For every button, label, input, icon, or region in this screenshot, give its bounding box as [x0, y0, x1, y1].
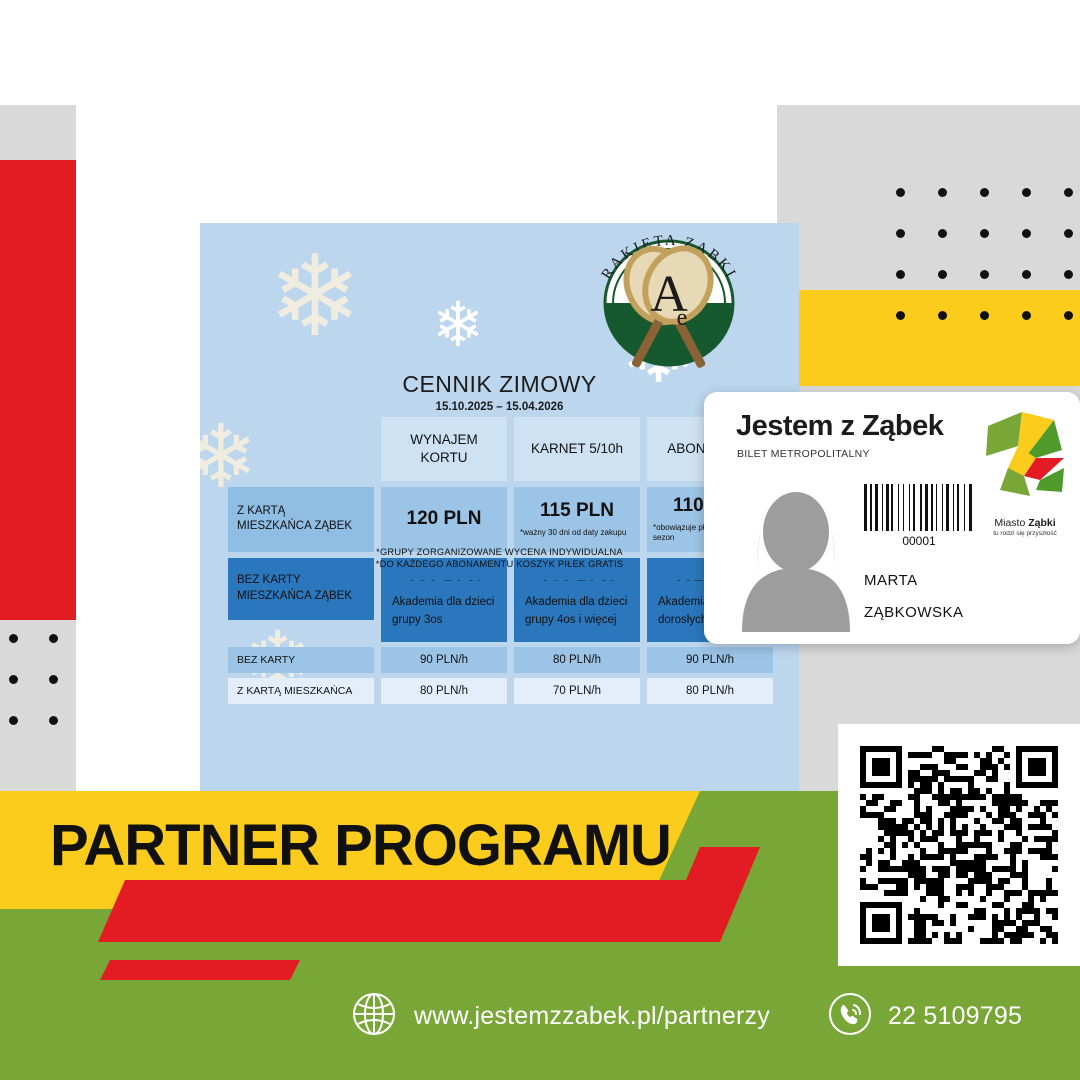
- barcode-bar: [913, 484, 915, 531]
- banner-red-stripe-small: [100, 960, 300, 980]
- decorative-dot: [49, 675, 58, 684]
- price-cell: 120 PLN: [381, 487, 507, 552]
- price-cell: 115 PLN *ważny 30 dni od daty zakupu: [514, 487, 640, 552]
- city-logo-name-bold: Ząbki: [1028, 517, 1055, 529]
- decorative-dot: [1022, 229, 1031, 238]
- snowflake-icon: ❄: [268, 241, 362, 353]
- academy-price-cell: 90 PLN/h: [381, 647, 507, 673]
- academy-corner-cell: [228, 581, 374, 642]
- price-table-header-wynajem: WYNAJEM KORTU: [381, 417, 507, 481]
- decorative-dot: [938, 311, 947, 320]
- barcode-bar: [909, 484, 910, 531]
- academy-price-cell: 90 PLN/h: [647, 647, 773, 673]
- decorative-dot: [938, 229, 947, 238]
- barcode-bar: [890, 484, 891, 531]
- barcode-bar: [903, 484, 904, 531]
- website-url[interactable]: www.jestemzzabek.pl/partnerzy: [414, 1002, 770, 1031]
- decorative-dot: [980, 270, 989, 279]
- barcode-bar: [923, 484, 924, 531]
- header-line: dorosłych: [658, 614, 707, 626]
- academy-row-bez-karty: BEZ KARTY 90 PLN/h 80 PLN/h 90 PLN/h: [228, 647, 773, 673]
- cardholder-photo: [736, 484, 856, 632]
- barcode-bar: [864, 484, 867, 531]
- decorative-dot: [896, 270, 905, 279]
- svg-text:e: e: [677, 305, 688, 331]
- barcode-bar: [911, 484, 912, 531]
- barcode-bar: [900, 484, 902, 531]
- header-line: Akademia dla dzieci: [525, 596, 627, 608]
- barcode-bar: [870, 484, 872, 531]
- row-label-line: Z KARTĄ: [237, 504, 365, 520]
- barcode-bar: [873, 484, 874, 531]
- city-logo-name-plain: Miasto: [994, 517, 1028, 529]
- decorative-dot: [896, 311, 905, 320]
- barcode-number: 00001: [864, 534, 974, 548]
- barcode-bar: [875, 484, 878, 531]
- decorative-dot: [1022, 270, 1031, 279]
- barcode-bar: [898, 484, 899, 531]
- barcode-bar: [920, 484, 922, 531]
- decorative-dot: [49, 716, 58, 725]
- qr-code-icon[interactable]: [860, 746, 1058, 944]
- rakieta-zabki-logo: RAKIETA ZĄBKI A e: [574, 231, 764, 391]
- cardholder-first-name-field: MARTA: [864, 568, 1080, 593]
- background-red-left-block: [0, 160, 76, 620]
- decorative-dot: [980, 311, 989, 320]
- decorative-dot: [980, 229, 989, 238]
- academy-price-cell: 70 PLN/h: [514, 678, 640, 704]
- decorative-dot: [9, 634, 18, 643]
- metro-ticket-card: Jestem z Ząbek BILET METROPOLITALNY Mias…: [704, 392, 1080, 644]
- globe-icon: [352, 992, 396, 1041]
- poster-white-frame: ❄ ❄ ❄ ❄ ❄ RAKIETA ZĄBKI: [76, 86, 772, 792]
- barcode-bar: [944, 484, 945, 531]
- barcode-bar: [868, 484, 869, 531]
- barcode-bar: [953, 484, 954, 531]
- barcode-bar: [879, 484, 881, 531]
- barcode-bar: [957, 484, 959, 531]
- decorative-dot: [938, 188, 947, 197]
- decorative-dot: [1064, 270, 1073, 279]
- footer-website[interactable]: www.jestemzzabek.pl/partnerzy: [352, 992, 770, 1041]
- header-line: KARNET 5/10h: [531, 440, 623, 458]
- barcode-bar: [942, 484, 944, 531]
- academy-price-cell: 80 PLN/h: [647, 678, 773, 704]
- barcode-bar: [905, 484, 908, 531]
- barcode-bar: [955, 484, 956, 531]
- academy-header-dzieci-4os: Akademia dla dzieci grupy 4os i więcej: [514, 581, 640, 642]
- row-label-line: MIESZKAŃCA ZĄBEK: [237, 519, 365, 535]
- price-table-corner-cell: [228, 417, 374, 481]
- academy-row-z-karta: Z KARTĄ MIESZKAŃCA 80 PLN/h 70 PLN/h 80 …: [228, 678, 773, 704]
- barcode-bar: [973, 484, 974, 531]
- barcode-bar: [931, 484, 933, 531]
- dot-grid-left: [0, 620, 76, 750]
- banner-title: PARTNER PROGRAMU: [50, 812, 671, 879]
- price-table-header-row: WYNAJEM KORTU KARNET 5/10h ABONAMENT: [228, 417, 773, 481]
- academy-table: Akademia dla dzieci grupy 3os Akademia d…: [228, 581, 773, 709]
- barcode-bar: [882, 484, 883, 531]
- barcode-bar: [884, 484, 885, 531]
- barcode-bar: [960, 484, 963, 531]
- decorative-dot: [49, 634, 58, 643]
- decorative-dot: [896, 188, 905, 197]
- city-logo-tagline: tu rodzi się przyszłość: [978, 530, 1072, 537]
- decorative-dot: [1022, 311, 1031, 320]
- cardholder-last-name: ZĄBKOWSKA: [864, 604, 964, 621]
- barcode-bar: [938, 484, 941, 531]
- barcode-bar: [929, 484, 930, 531]
- qr-code-card[interactable]: [838, 724, 1080, 966]
- cardholder-last-name-field: ZĄBKOWSKA: [864, 600, 1080, 625]
- barcode-bar: [925, 484, 928, 531]
- price-value: 120 PLN: [407, 508, 482, 530]
- card-subtitle: BILET METROPOLITALNY: [737, 448, 870, 460]
- price-value: 115 PLN: [540, 500, 614, 522]
- barcode-bar: [964, 484, 965, 531]
- decorative-dot: [1064, 311, 1073, 320]
- decorative-dot: [938, 270, 947, 279]
- academy-price-cell: 80 PLN/h: [514, 647, 640, 673]
- header-line: WYNAJEM: [410, 432, 478, 447]
- academy-header-row: Akademia dla dzieci grupy 3os Akademia d…: [228, 581, 773, 642]
- decorative-dot: [980, 188, 989, 197]
- phone-icon: [828, 992, 872, 1041]
- footer-phone[interactable]: 22 5109795: [828, 992, 1022, 1041]
- header-line: grupy 4os i więcej: [525, 614, 616, 626]
- barcode-bar: [916, 484, 919, 531]
- price-table-row-z-karta: Z KARTĄ MIESZKAŃCA ZĄBEK 120 PLN 115 PLN…: [228, 487, 773, 552]
- barcode-bar: [894, 484, 897, 531]
- phone-number[interactable]: 22 5109795: [888, 1002, 1022, 1031]
- decorative-dot: [896, 229, 905, 238]
- snowflake-icon: ❄: [432, 295, 484, 357]
- dot-grid-right: [880, 170, 1080, 340]
- barcode: [864, 484, 974, 531]
- price-note: *ważny 30 dni od daty zakupu: [520, 528, 626, 538]
- barcode-bar: [886, 484, 889, 531]
- academy-row-label: BEZ KARTY: [228, 647, 374, 673]
- card-title: Jestem z Ząbek: [736, 410, 943, 443]
- decorative-dot: [9, 675, 18, 684]
- barcode-bar: [966, 484, 968, 531]
- decorative-dot: [9, 716, 18, 725]
- header-line: grupy 3os: [392, 614, 443, 626]
- miasto-zabki-logo: Miasto Ząbki tu rodzi się przyszłość: [978, 406, 1072, 518]
- academy-price-cell: 80 PLN/h: [381, 678, 507, 704]
- price-table-header-karnet: KARNET 5/10h: [514, 417, 640, 481]
- header-line: KORTU: [420, 450, 467, 465]
- row-label-z-karta: Z KARTĄ MIESZKAŃCA ZĄBEK: [228, 487, 374, 552]
- barcode-bar: [946, 484, 949, 531]
- barcode-bar: [891, 484, 893, 531]
- decorative-dot: [1022, 188, 1031, 197]
- decorative-dot: [1064, 188, 1073, 197]
- barcode-bar: [936, 484, 937, 531]
- poster-canvas: ❄ ❄ ❄ ❄ ❄ RAKIETA ZĄBKI: [0, 0, 1080, 1080]
- decorative-dot: [1064, 229, 1073, 238]
- barcode-bar: [969, 484, 972, 531]
- cardholder-first-name: MARTA: [864, 572, 918, 589]
- academy-row-label: Z KARTĄ MIESZKAŃCA: [228, 678, 374, 704]
- header-line: Akademia dla dzieci: [392, 596, 494, 608]
- barcode-bar: [950, 484, 952, 531]
- academy-header-dzieci-3os: Akademia dla dzieci grupy 3os: [381, 581, 507, 642]
- barcode-bar: [934, 484, 935, 531]
